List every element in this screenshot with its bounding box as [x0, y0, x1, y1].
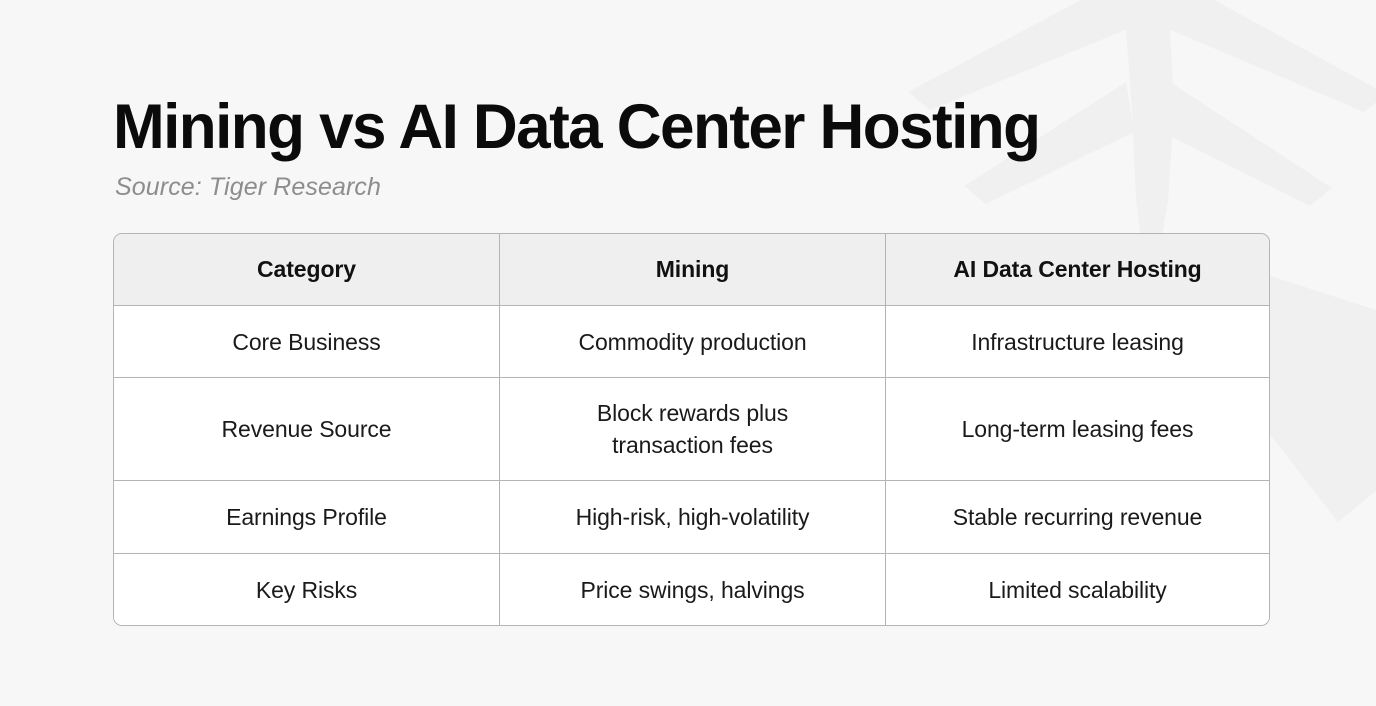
cell-ai-hosting: Long-term leasing fees	[885, 377, 1269, 480]
cell-mining: Block rewards plus transaction fees	[499, 377, 885, 480]
comparison-table: Category Mining AI Data Center Hosting C…	[113, 233, 1270, 626]
source-attribution: Source: Tiger Research	[115, 173, 1273, 202]
table-row: Revenue Source Block rewards plus transa…	[114, 377, 1269, 480]
header-block: Mining vs AI Data Center Hosting Source:…	[113, 96, 1273, 202]
table-row: Core Business Commodity production Infra…	[114, 306, 1269, 377]
cell-mining: Commodity production	[499, 306, 885, 377]
column-header-category: Category	[114, 234, 499, 306]
cell-category: Core Business	[114, 306, 499, 377]
cell-category: Earnings Profile	[114, 480, 499, 553]
table-body: Core Business Commodity production Infra…	[114, 306, 1269, 625]
cell-category: Revenue Source	[114, 377, 499, 480]
cell-mining: Price swings, halvings	[499, 553, 885, 625]
table-row: Key Risks Price swings, halvings Limited…	[114, 553, 1269, 625]
cell-ai-hosting: Infrastructure leasing	[885, 306, 1269, 377]
table-row: Earnings Profile High-risk, high-volatil…	[114, 480, 1269, 553]
page-title: Mining vs AI Data Center Hosting	[113, 96, 1256, 159]
cell-mining-line-2: transaction fees	[512, 429, 873, 461]
table-header: Category Mining AI Data Center Hosting	[114, 234, 1269, 306]
cell-mining-line-1: Block rewards plus	[512, 397, 873, 429]
comparison-table-container: Category Mining AI Data Center Hosting C…	[113, 233, 1268, 626]
cell-mining: High-risk, high-volatility	[499, 480, 885, 553]
table-header-row: Category Mining AI Data Center Hosting	[114, 234, 1269, 306]
infographic-page: Mining vs AI Data Center Hosting Source:…	[0, 0, 1376, 706]
cell-ai-hosting: Stable recurring revenue	[885, 480, 1269, 553]
cell-ai-hosting: Limited scalability	[885, 553, 1269, 625]
column-header-mining: Mining	[499, 234, 885, 306]
column-header-ai-hosting: AI Data Center Hosting	[885, 234, 1269, 306]
cell-category: Key Risks	[114, 553, 499, 625]
